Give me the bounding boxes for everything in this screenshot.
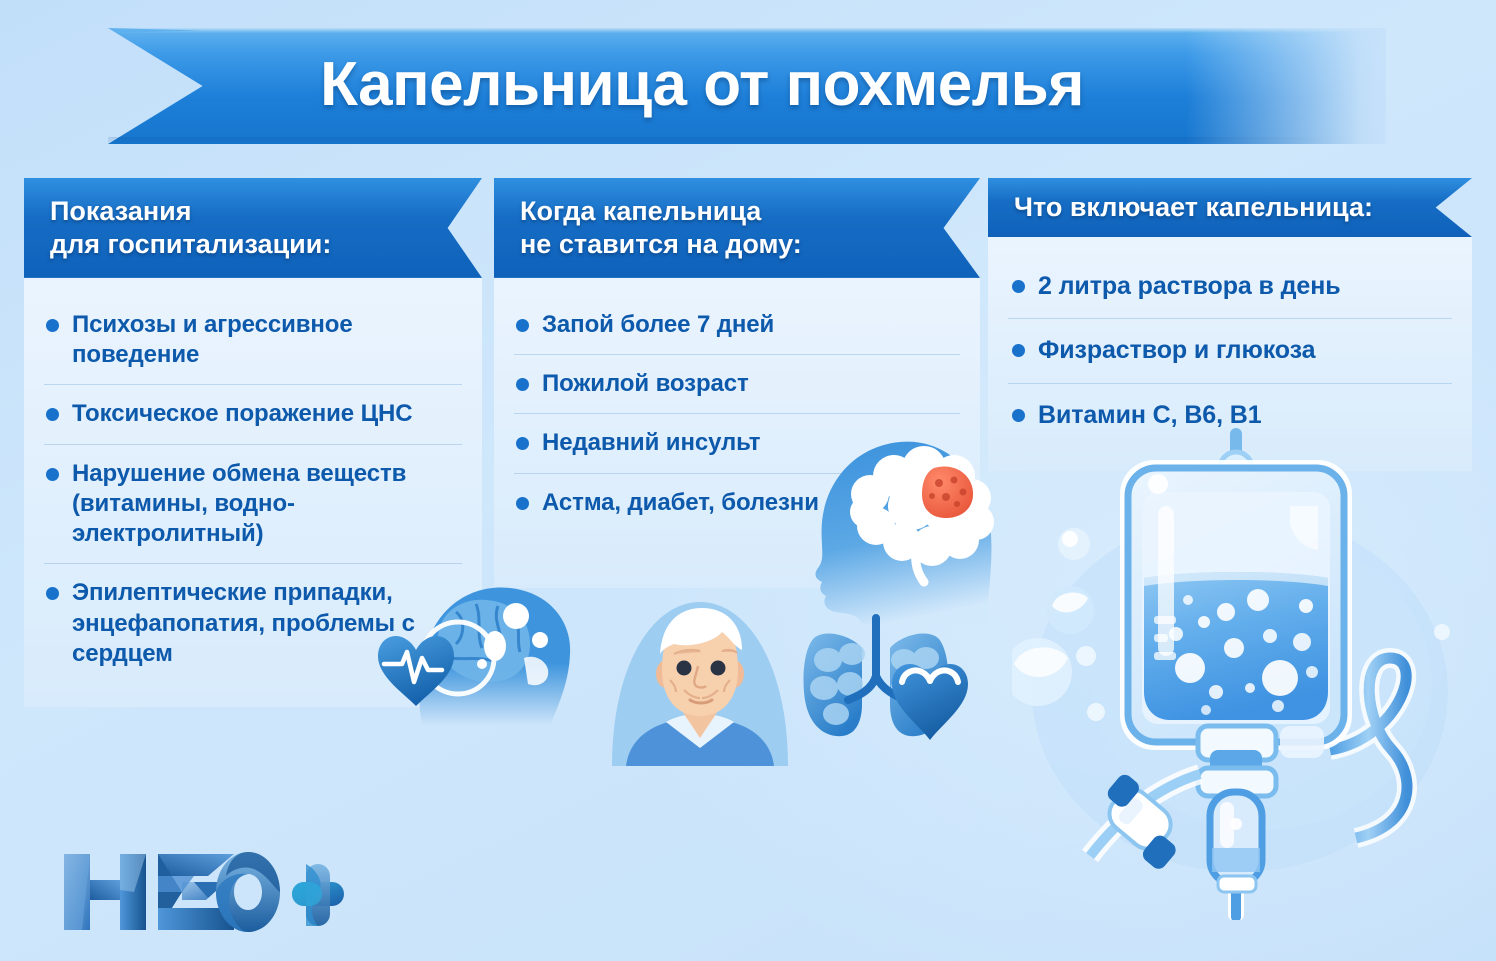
iv-drip-bag-icon xyxy=(1012,420,1496,920)
bullet-dot-icon xyxy=(46,408,59,421)
list-item: Токсическое поражение ЦНС xyxy=(44,385,462,444)
list-item-label: Нарушение обмена веществ (витамины, водн… xyxy=(72,459,458,550)
column-header-line: для госпитализации: xyxy=(50,228,412,261)
bullet-dot-icon xyxy=(46,468,59,481)
bullet-dot-icon xyxy=(46,319,59,332)
column-header-contraindications: Когда капельница не ставится на дому: xyxy=(494,178,980,278)
column-header-line: Что включает капельница: xyxy=(1014,191,1402,224)
bullet-dot-icon xyxy=(516,437,529,450)
column-header-line: не ставится на дому: xyxy=(520,228,910,261)
elderly-man-avatar-icon xyxy=(604,588,796,766)
list-item: Физраствор и глюкоза xyxy=(1008,319,1452,384)
list-item-label: Запой более 7 дней xyxy=(542,310,774,340)
column-header-line: Показания xyxy=(50,195,412,228)
page-title: Капельница от похмелья xyxy=(108,49,1386,120)
list-item: Психозы и агрессивное поведение xyxy=(44,296,462,385)
list-item-label: Физраствор и глюкоза xyxy=(1038,335,1315,367)
column-header-contents: Что включает капельница: xyxy=(988,178,1472,237)
bullet-dot-icon xyxy=(516,497,529,510)
bullet-dot-icon xyxy=(1012,344,1025,357)
column-header-line: Когда капельница xyxy=(520,195,910,228)
list-item: Пожилой возраст xyxy=(514,355,960,414)
logo-neo-plus[interactable] xyxy=(58,842,348,942)
bullet-dot-icon xyxy=(516,319,529,332)
list-item: Запой более 7 дней xyxy=(514,296,960,355)
bullet-dot-icon xyxy=(46,587,59,600)
column-header-indications: Показания для госпитализации: xyxy=(24,178,482,278)
bullet-dot-icon xyxy=(1012,280,1025,293)
stroke-brain-head-icon xyxy=(796,418,1028,628)
list-item-label: Пожилой возраст xyxy=(542,369,749,399)
list-item-label: Токсическое поражение ЦНС xyxy=(72,399,412,429)
list-item-label: Психозы и агрессивное поведение xyxy=(72,310,458,370)
list-item-label: 2 литра раствора в день xyxy=(1038,271,1340,303)
list-item: 2 литра раствора в день xyxy=(1008,255,1452,320)
list-item-label: Недавний инсульт xyxy=(542,428,760,458)
brain-heart-ecg-head-icon xyxy=(364,540,596,730)
infographic-canvas: Капельница от похмелья Показания для гос… xyxy=(0,0,1496,961)
title-ribbon: Капельница от похмелья xyxy=(108,28,1386,144)
bullet-dot-icon xyxy=(516,378,529,391)
lungs-heart-icon xyxy=(792,612,978,752)
